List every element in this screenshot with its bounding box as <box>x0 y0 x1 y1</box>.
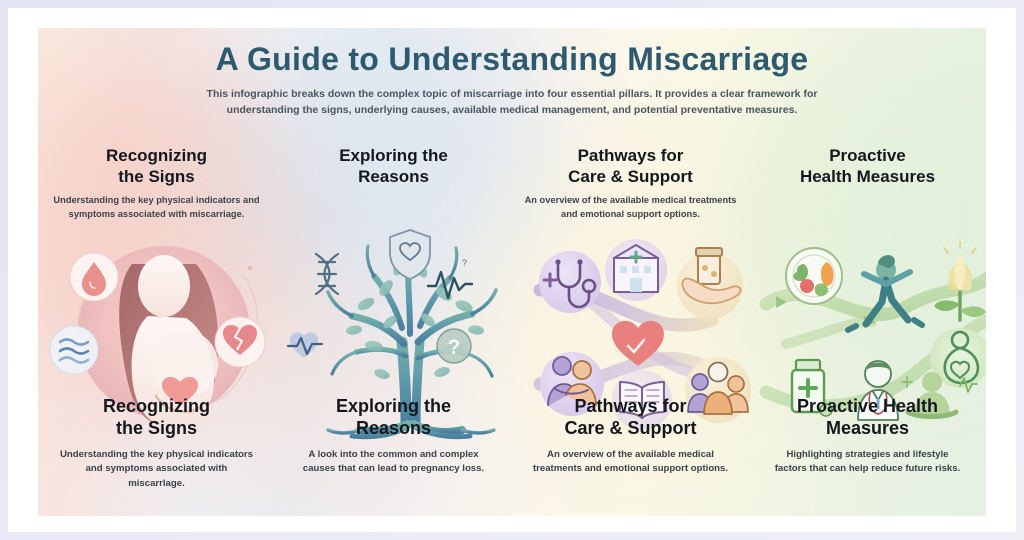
bottom-pillar-exploring-the-reasons: Exploring the Reasons A look into the co… <box>275 396 512 514</box>
bottom-pillar-subtitle: An overview of the available medical tre… <box>533 448 729 477</box>
page-subtitle: This infographic breaks down the complex… <box>202 87 822 119</box>
water-waves-icon <box>50 326 98 374</box>
bottom-pillar-title: Pathways for Care & Support <box>522 396 739 440</box>
poster-header: A Guide to Understanding Miscarriage Thi… <box>38 42 986 119</box>
bottom-pillar-subtitle: Understanding the key physical indicator… <box>59 448 255 491</box>
svg-text:?: ? <box>448 336 461 359</box>
bottom-pillar-title: Exploring the Reasons <box>285 396 502 440</box>
poster-white-border: A Guide to Understanding Miscarriage Thi… <box>8 8 1016 532</box>
bottom-pillar-row: Recognizing the Signs Understanding the … <box>38 396 986 514</box>
heartbeat-icon <box>288 333 322 358</box>
svg-text:?: ? <box>462 258 467 268</box>
top-pillar-title: Recognizing the Signs <box>46 146 267 187</box>
question-mark-icon: ? <box>437 329 471 363</box>
bottom-pillar-pathways-for-care-and-support: Pathways for Care & Support An overview … <box>512 396 749 514</box>
bottom-pillar-subtitle: Highlighting strategies and lifestyle fa… <box>770 448 966 477</box>
top-pillar-title: Exploring the Reasons <box>283 146 504 187</box>
top-pillar-subtitle: An overview of the available medical tre… <box>525 194 737 220</box>
poster-outer-frame: A Guide to Understanding Miscarriage Thi… <box>0 0 1024 540</box>
page-title: A Guide to Understanding Miscarriage <box>38 42 986 77</box>
healthy-food-plate-icon <box>786 248 842 304</box>
blood-drop-icon <box>70 253 118 301</box>
top-pillar-title: Proactive Health Measures <box>757 146 978 187</box>
bottom-pillar-subtitle: A look into the common and complex cause… <box>296 448 492 477</box>
pill-bottle-in-hand-icon <box>677 248 743 319</box>
bottom-pillar-title: Recognizing the Signs <box>48 396 265 440</box>
bottom-pillar-proactive-health-measures: Proactive Health Measures Highlighting s… <box>749 396 986 514</box>
hospital-icon <box>605 239 667 301</box>
stethoscope-icon <box>539 251 601 313</box>
top-pillar-title: Pathways for Care & Support <box>520 146 741 187</box>
broken-heart-icon <box>215 317 265 367</box>
bottom-pillar-recognizing-the-signs: Recognizing the Signs Understanding the … <box>38 396 275 514</box>
dna-helix-icon <box>316 254 338 294</box>
top-pillar-subtitle: Understanding the key physical indicator… <box>51 194 263 220</box>
infographic-poster: A Guide to Understanding Miscarriage Thi… <box>38 28 986 516</box>
bottom-pillar-title: Proactive Health Measures <box>759 396 976 440</box>
